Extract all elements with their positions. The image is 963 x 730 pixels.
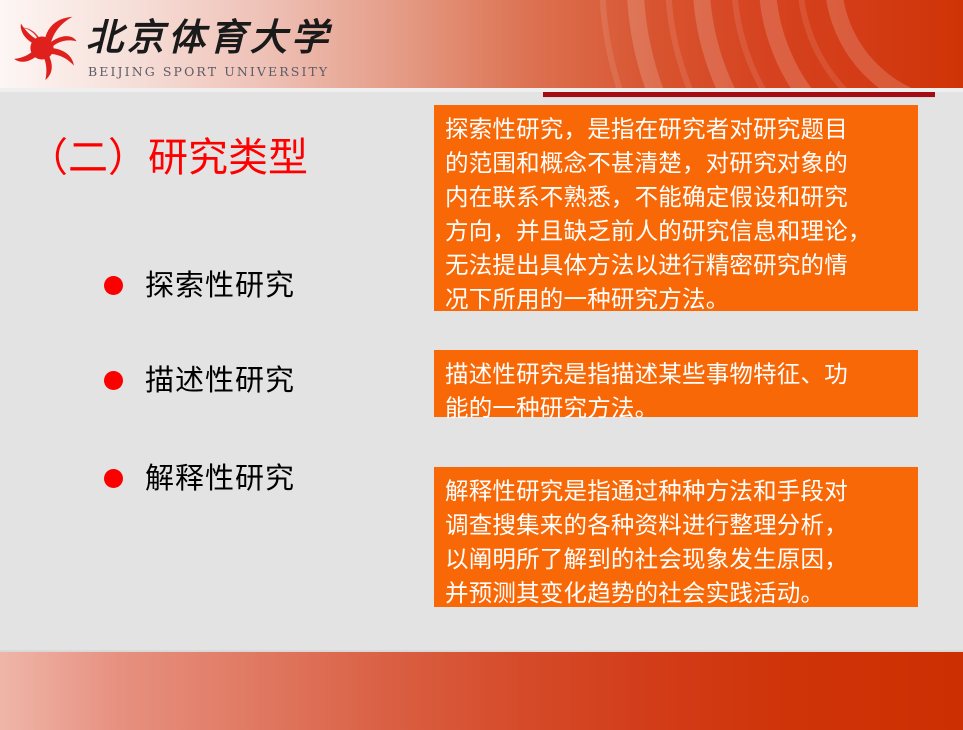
list-item-label: 解释性研究 — [145, 458, 295, 498]
logo-wordmark-english: BEIJING SPORT UNIVERSITY — [88, 64, 306, 79]
callout-line: 方向，并且缺乏前人的研究信息和理论， — [445, 214, 909, 248]
definition-callout-exploratory: 探索性研究，是指在研究者对研究题目 的范围和概念不甚清楚，对研究对象的 内在联系… — [434, 105, 918, 311]
callout-line: 内在联系不熟悉，不能确定假设和研究 — [445, 180, 909, 214]
definition-callout-explanatory: 解释性研究是指通过种种方法和手段对 调查搜集来的各种资料进行整理分析， 以阐明所… — [434, 467, 918, 607]
logo-wordmark-chinese: 北京体育大学 — [86, 14, 301, 62]
university-logo: 北京体育大学 BEIJING SPORT UNIVERSITY — [6, 8, 306, 86]
bullet-dot-icon — [104, 371, 123, 390]
callout-line: 解释性研究是指通过种种方法和手段对 — [445, 474, 909, 508]
callout-line: 并预测其变化趋势的社会实践活动。 — [445, 576, 909, 610]
list-item[interactable]: 描述性研究 — [104, 360, 295, 400]
list-item-label: 描述性研究 — [145, 360, 295, 400]
callout-line: 描述性研究是指描述某些事物特征、功 — [445, 357, 909, 391]
callout-line: 能的一种研究方法。 — [445, 391, 909, 425]
page-title: （二）研究类型 — [28, 132, 308, 184]
bullet-dot-icon — [104, 276, 123, 295]
footer-banner — [0, 652, 963, 730]
list-item-label: 探索性研究 — [145, 265, 295, 305]
presentation-slide: 北京体育大学 BEIJING SPORT UNIVERSITY （二）研究类型 … — [0, 0, 963, 730]
definition-callout-descriptive: 描述性研究是指描述某些事物特征、功 能的一种研究方法。 — [434, 350, 918, 417]
callout-line: 的范围和概念不甚清楚，对研究对象的 — [445, 146, 909, 180]
list-item[interactable]: 解释性研究 — [104, 458, 295, 498]
swirl-icon-svg — [10, 14, 78, 82]
list-item[interactable]: 探索性研究 — [104, 265, 295, 305]
bsu-swirl-logo-icon — [10, 14, 78, 82]
callout-line: 无法提出具体方法以进行精密研究的情 — [445, 248, 909, 282]
bullet-dot-icon — [104, 469, 123, 488]
callout-line: 况下所用的一种研究方法。 — [445, 282, 909, 316]
callout-line: 调查搜集来的各种资料进行整理分析， — [445, 508, 909, 542]
header-accent-line — [543, 92, 935, 97]
callout-line: 以阐明所了解到的社会现象发生原因， — [445, 542, 909, 576]
callout-line: 探索性研究，是指在研究者对研究题目 — [445, 112, 909, 146]
